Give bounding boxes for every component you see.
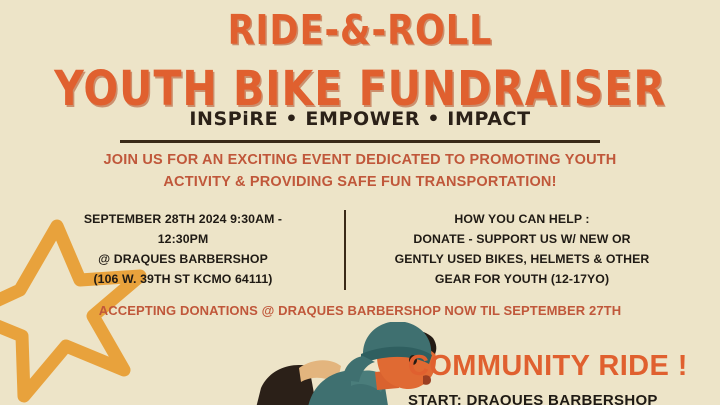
details-block: SEPTEMBER 28TH 2024 9:30AM - 12:30PM @ D…	[0, 210, 720, 290]
how-to-help-line-3: GENTLY USED BIKES, HELMETS & OTHER	[372, 250, 672, 270]
community-ride-heading: COMMUNITY RIDE !	[408, 352, 688, 381]
event-datetime-line-1: SEPTEMBER 28TH 2024 9:30AM -	[48, 210, 318, 230]
headline-block: RIDE-&-ROLL YOUTH BIKE FUNDRAISER	[0, 6, 720, 104]
intro-line-2: ACTIVITY & PROVIDING SAFE FUN TRANSPORTA…	[40, 172, 680, 194]
donations-notice: ACCEPTING DONATIONS @ DRAQUES BARBERSHOP…	[0, 303, 720, 318]
event-datetime-line-2: 12:30PM	[48, 230, 318, 250]
flyer-poster: RIDE-&-ROLL YOUTH BIKE FUNDRAISER INSPiR…	[0, 0, 720, 405]
how-to-help-line-4: GEAR FOR YOUTH (12-17YO)	[372, 270, 672, 290]
vertical-divider	[344, 210, 346, 290]
how-to-help-line-2: DONATE - SUPPORT US W/ NEW OR	[372, 230, 672, 250]
event-venue: @ DRAQUES BARBERSHOP	[48, 250, 318, 270]
how-to-help-column: HOW YOU CAN HELP : DONATE - SUPPORT US W…	[362, 210, 682, 290]
tagline: INSPiRE • EMPOWER • IMPACT	[0, 108, 720, 130]
how-to-help-heading: HOW YOU CAN HELP :	[372, 210, 672, 230]
intro-paragraph: JOIN US FOR AN EXCITING EVENT DEDICATED …	[40, 150, 680, 194]
title-line-secondary: YOUTH BIKE FUNDRAISER	[0, 46, 720, 114]
intro-line-1: JOIN US FOR AN EXCITING EVENT DEDICATED …	[40, 150, 680, 172]
event-address: (106 W. 39TH ST KCMO 64111)	[48, 270, 318, 290]
event-when-column: SEPTEMBER 28TH 2024 9:30AM - 12:30PM @ D…	[38, 210, 328, 290]
horizontal-divider	[120, 140, 600, 143]
community-ride-start: START: DRAQUES BARBERSHOP	[408, 393, 658, 405]
